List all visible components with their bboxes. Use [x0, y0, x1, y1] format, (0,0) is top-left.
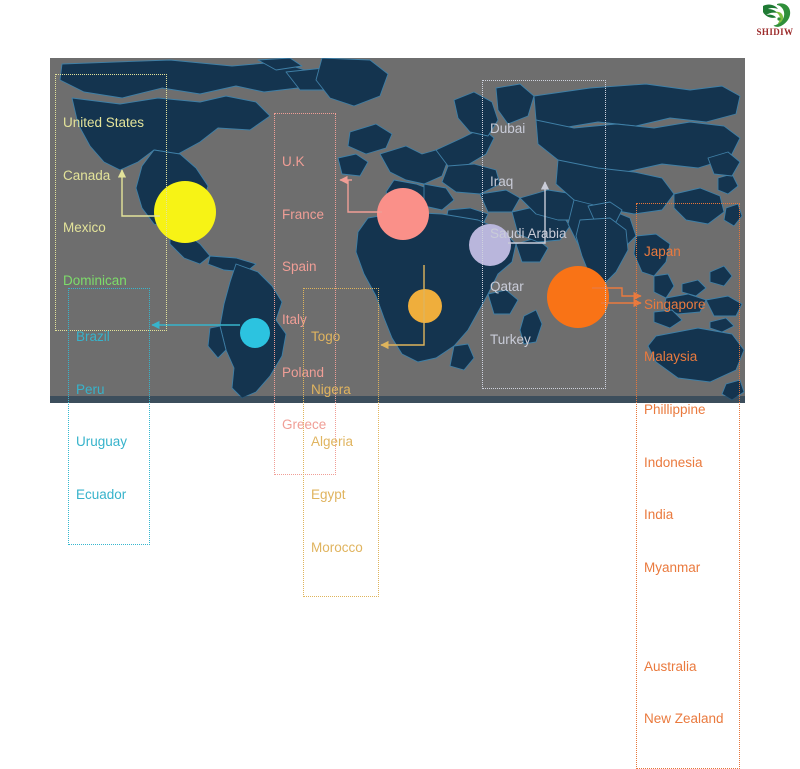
country-label: Malaysia: [644, 348, 732, 366]
asia-pacific-label-box[interactable]: Japan Singapore Malaysia Phillippine Ind…: [636, 203, 740, 769]
country-label: Peru: [76, 381, 142, 399]
label-spacer: [644, 612, 732, 623]
country-label: Qatar: [490, 278, 598, 296]
country-label: Brazil: [76, 328, 142, 346]
country-label: Nigera: [311, 381, 371, 399]
africa-label-box[interactable]: Togo Nigera Algeria Egypt Morocco: [303, 288, 379, 597]
south-america-bubble[interactable]: [240, 318, 270, 348]
country-label: United States: [63, 114, 159, 132]
country-label: Canada: [63, 167, 159, 185]
europe-bubble[interactable]: [377, 188, 429, 240]
country-label: Egypt: [311, 486, 371, 504]
middle-east-label-box[interactable]: Dubai Iraq Saudi Arabia Qatar Turkey: [482, 80, 606, 389]
leaf-bird-logo-icon: [760, 1, 792, 29]
country-label: Phillippine: [644, 401, 732, 419]
country-label: France: [282, 206, 328, 224]
country-label: New Zealand: [644, 710, 732, 728]
africa-bubble[interactable]: [408, 289, 442, 323]
country-label: Mexico: [63, 219, 159, 237]
country-label: Singapore: [644, 296, 732, 314]
slide-canvas: SHIDIW: [0, 0, 800, 450]
country-label: Indonesia: [644, 454, 732, 472]
country-label: Ecuador: [76, 486, 142, 504]
logo-brand-text: SHIDIW: [752, 27, 798, 37]
country-label: Dubai: [490, 120, 598, 138]
company-logo: SHIDIW: [752, 1, 798, 45]
country-label: Togo: [311, 328, 371, 346]
country-label: Saudi Arabia: [490, 225, 598, 243]
country-label: Uruguay: [76, 433, 142, 451]
country-label: Turkey: [490, 331, 598, 349]
country-label: Japan: [644, 243, 732, 261]
country-label: India: [644, 506, 732, 524]
country-label: Dominican: [63, 272, 159, 290]
country-label: Spain: [282, 258, 328, 276]
south-america-label-box[interactable]: Brazil Peru Uruguay Ecuador: [68, 288, 150, 545]
country-label: Australia: [644, 658, 732, 676]
country-label: Morocco: [311, 539, 371, 557]
country-label: Myanmar: [644, 559, 732, 577]
country-label: Algeria: [311, 433, 371, 451]
country-label: U.K: [282, 153, 328, 171]
country-label: Iraq: [490, 173, 598, 191]
